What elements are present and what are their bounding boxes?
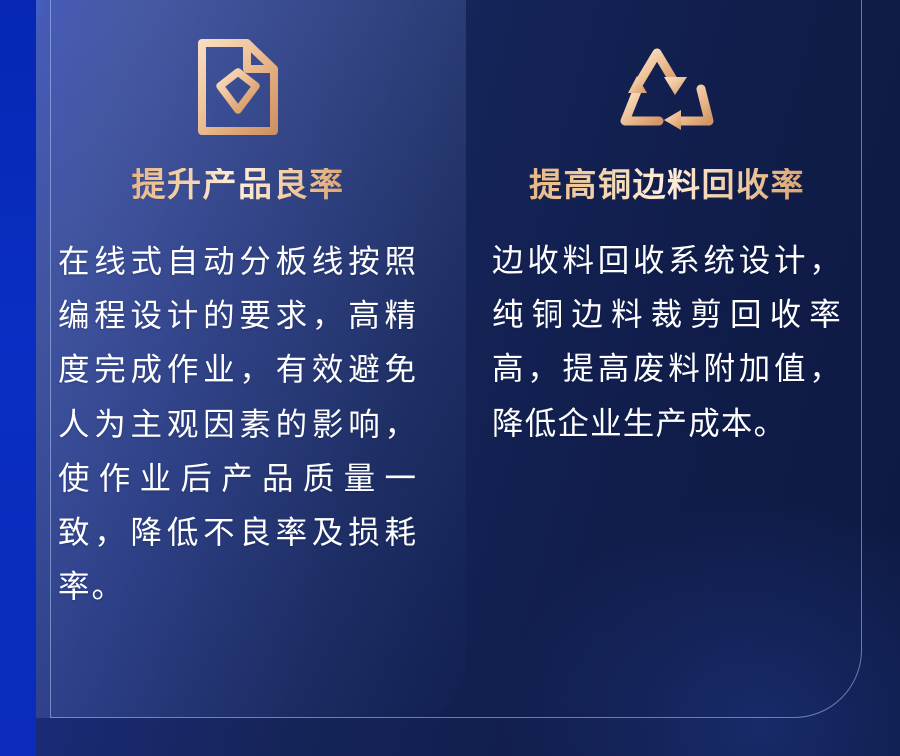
card-body-yield: 在线式自动分板线按照编程设计的要求，高精度完成作业，有效避免人为主观因素的影响，… [58, 234, 418, 613]
document-diamond-icon-wrap [193, 24, 283, 150]
card-body-recycle: 边收料回收系统设计，纯铜边料裁剪回收率高，提高废料附加值，降低企业生产成本。 [492, 233, 842, 450]
feature-columns: 提升产品良率 在线式自动分板线按照编程设计的要求，高精度完成作业，有效避免人为主… [0, 0, 900, 756]
feature-card-yield: 提升产品良率 在线式自动分板线按照编程设计的要求，高精度完成作业，有效避免人为主… [0, 0, 466, 756]
card-title-yield: 提升产品良率 [132, 168, 345, 202]
promo-banner: 提升产品良率 在线式自动分板线按照编程设计的要求，高精度完成作业，有效避免人为主… [0, 0, 900, 756]
document-diamond-icon [193, 34, 283, 140]
recycle-icon [615, 37, 719, 137]
card-title-recycle: 提高铜边料回收率 [529, 168, 805, 201]
feature-card-recycle: 提高铜边料回收率 边收料回收系统设计，纯铜边料裁剪回收率高，提高废料附加值，降低… [466, 0, 900, 756]
recycle-icon-wrap [615, 24, 719, 150]
